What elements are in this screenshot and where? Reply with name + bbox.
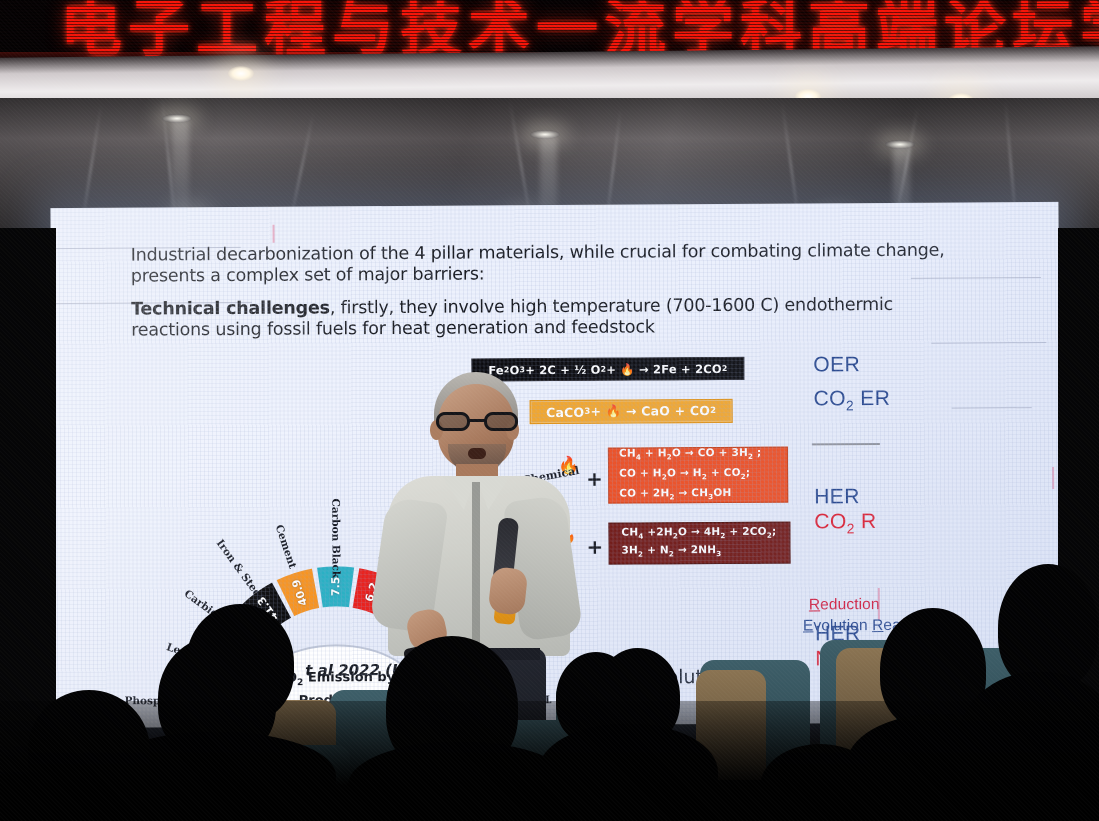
downlight-icon [228, 66, 254, 81]
paragraph-1-text: Industrial decarbonization of the 4 pill… [131, 241, 945, 287]
foreground-shadow [0, 701, 1099, 821]
glasses-icon [434, 412, 520, 431]
slide-paragraph-1: Industrial decarbonization of the 4 pill… [131, 241, 961, 288]
presenter-mouth [468, 448, 486, 459]
audience-head [998, 564, 1098, 690]
label-her-1: HER [814, 485, 860, 509]
label-oer: OER [813, 353, 860, 377]
legend-reduction: Reduction [809, 596, 880, 614]
donut-segment-value: 7.5 [329, 577, 342, 597]
lecture-hall-scene: 电子工程与技术一流学科高端论坛学术报 [0, 0, 1099, 821]
donut-segment-label: Carbon Black [329, 498, 341, 578]
label-co2r: CO2 R [814, 510, 876, 537]
label-co2er: CO2 ER [814, 387, 891, 414]
equation-box-methanol: CH4 + H2O → CO + 3H2 ; CO + H2O → H2 + C… [608, 447, 788, 504]
slide-paragraph-2: Technical challenges, firstly, they invo… [131, 294, 971, 341]
equation-box-ammonia: CH4 +2H2O → 4H2 + 2CO2; 3H2 + N2 → 2NH3 [608, 522, 790, 565]
slide-top-rule [812, 443, 880, 445]
shirt-placket [472, 482, 480, 654]
technical-challenges-label: Technical challenges [131, 298, 330, 319]
